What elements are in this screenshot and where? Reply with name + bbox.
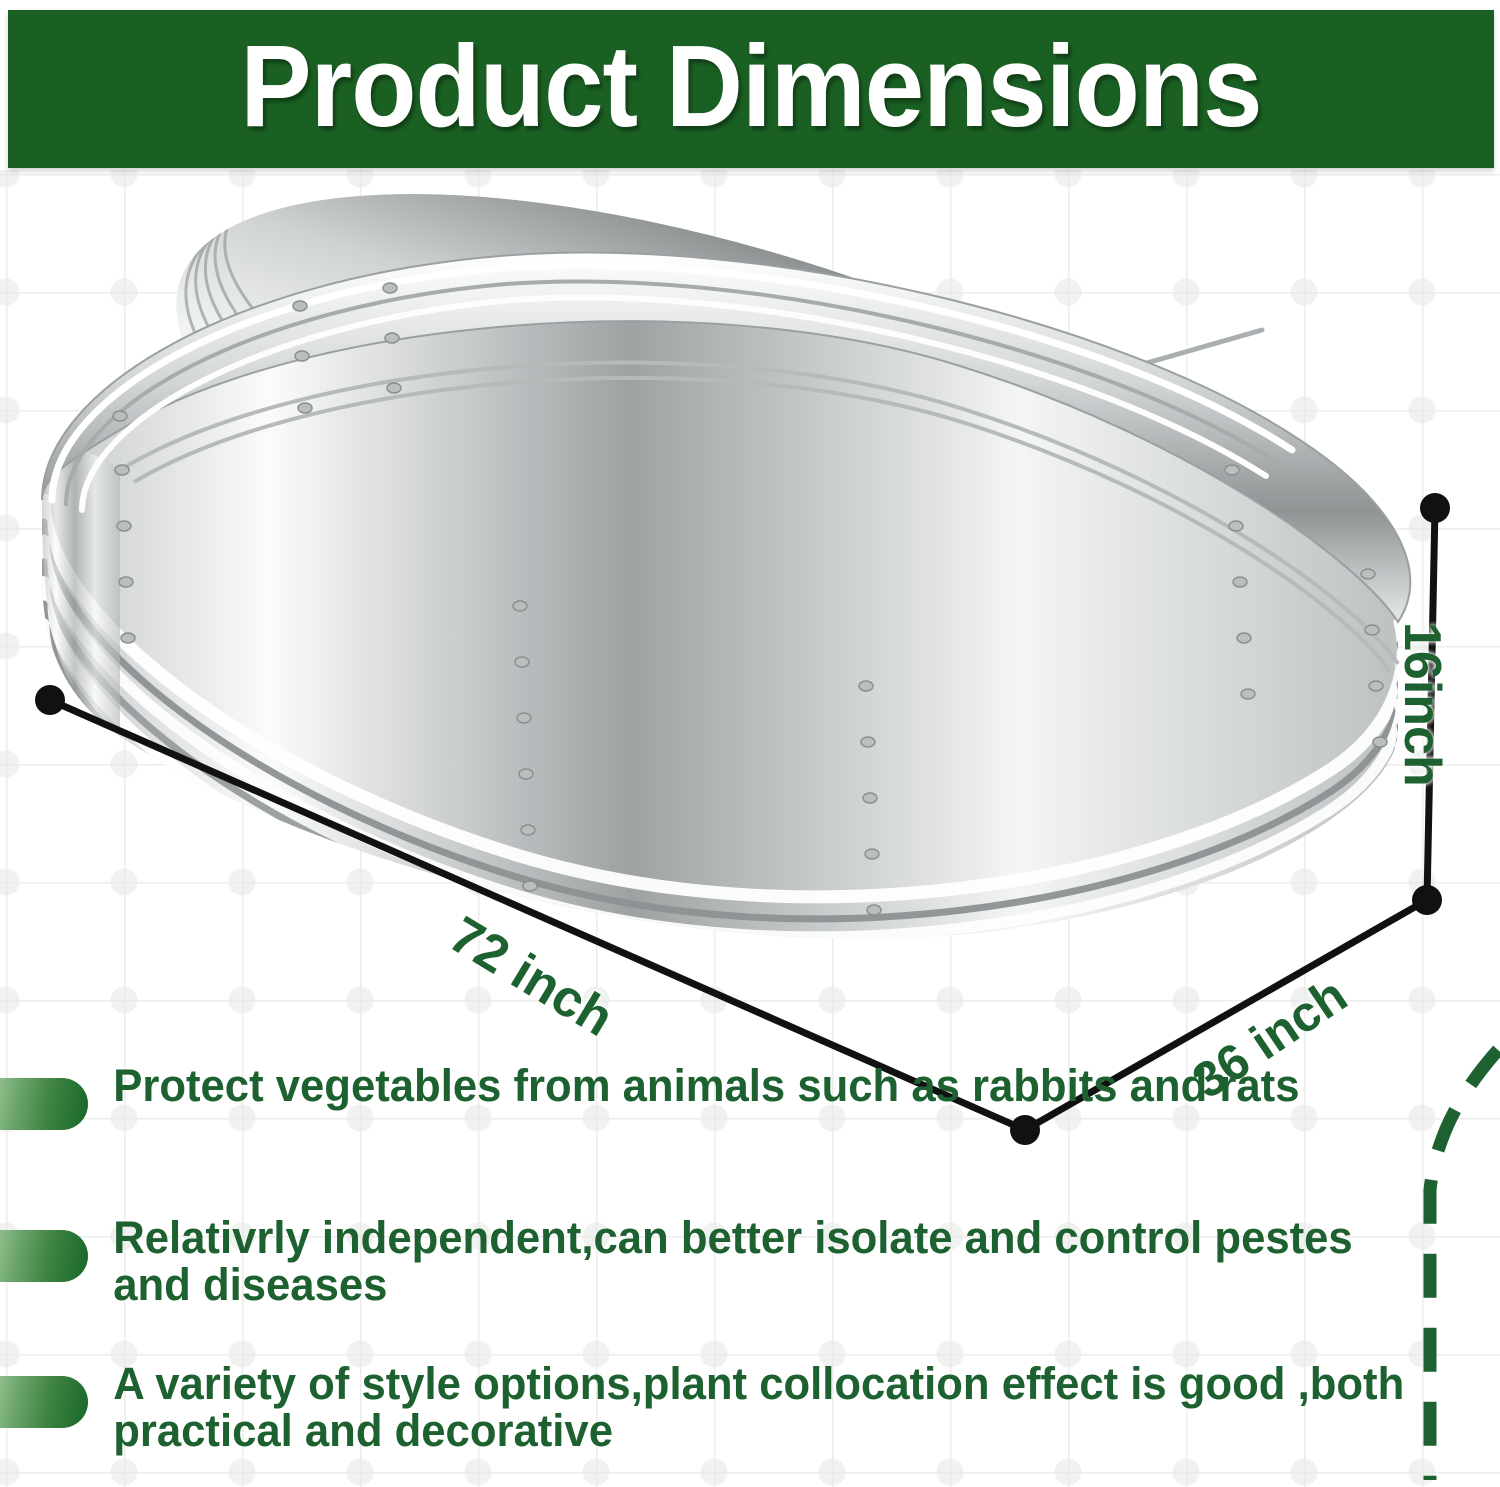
list-item: Relativrly independent,can better isolat…: [0, 1214, 1500, 1332]
header-banner: Product Dimensions: [8, 10, 1494, 168]
product-dimensions-infographic: Product Dimensions: [0, 0, 1500, 1487]
list-item: Protect vegetables from animals such as …: [0, 1062, 1500, 1180]
bullet-marker-icon: [0, 1376, 88, 1428]
bullet-marker-icon: [0, 1078, 88, 1130]
feature-text-independent-pest-control: Relativrly independent,can better isolat…: [88, 1214, 1432, 1309]
raised-garden-bed-drawing: [0, 170, 1500, 1130]
feature-text-protect-vegetables: Protect vegetables from animals such as …: [88, 1062, 1432, 1109]
list-item: A variety of style options,plant colloca…: [0, 1360, 1500, 1478]
feature-text-style-options: A variety of style options,plant colloca…: [88, 1360, 1432, 1455]
bullet-marker-icon: [0, 1230, 88, 1282]
feature-list: Protect vegetables from animals such as …: [0, 1062, 1500, 1478]
product-illustration: [0, 170, 1500, 1130]
page-title: Product Dimensions: [67, 10, 1434, 168]
